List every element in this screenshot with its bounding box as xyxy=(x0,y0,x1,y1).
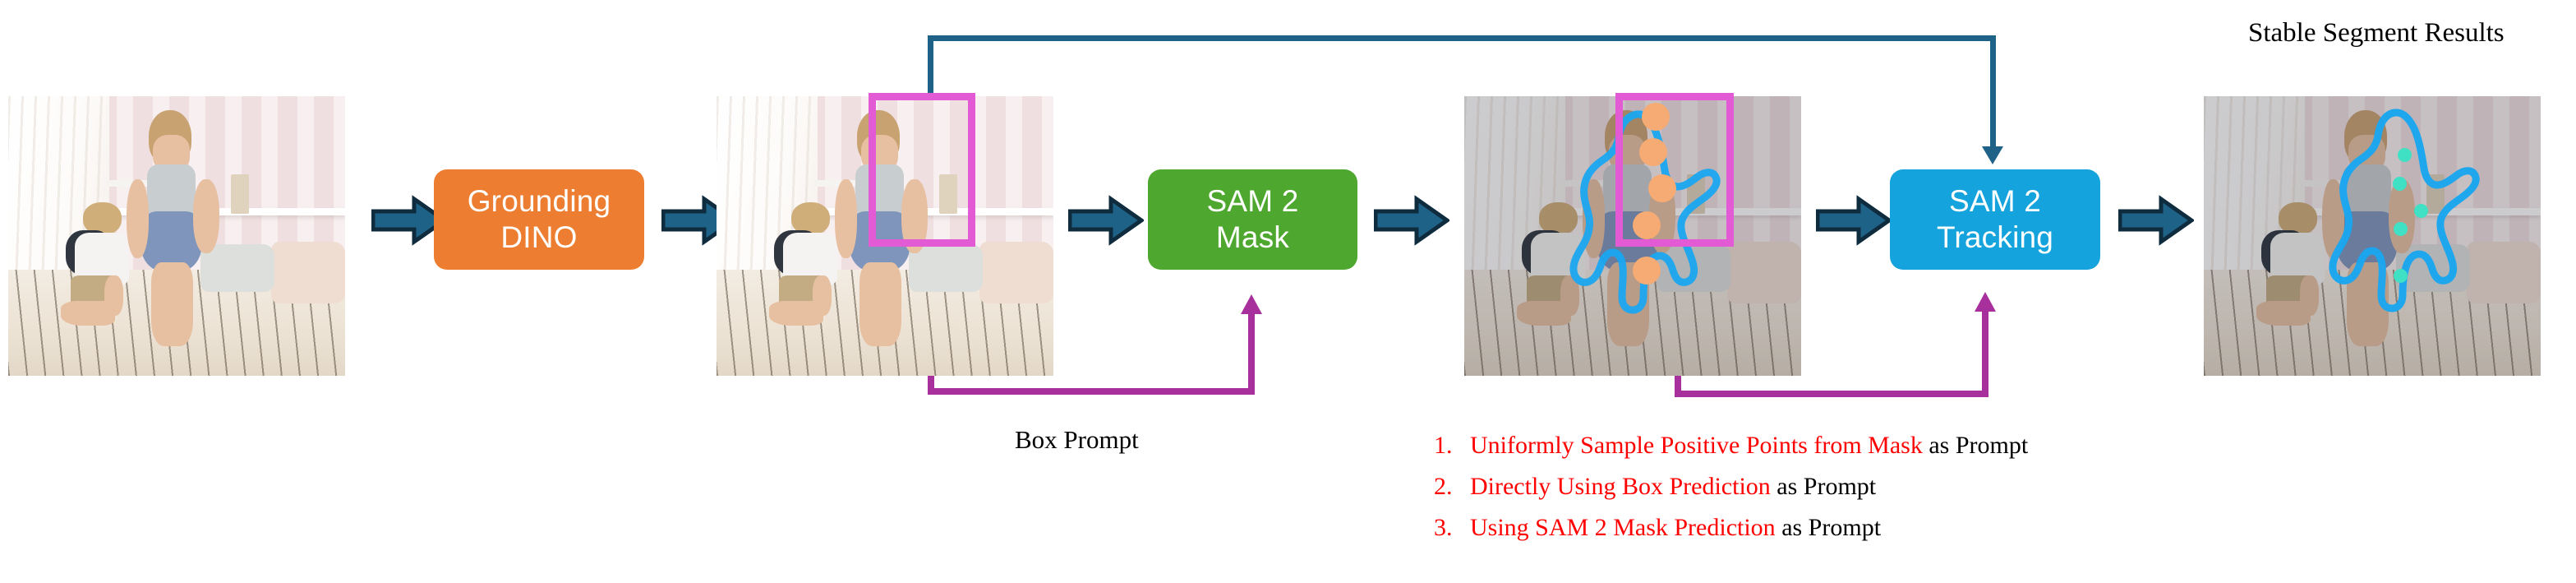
prompt-option-1: 1.Uniformly Sample Positive Points from … xyxy=(1434,432,2028,460)
prompt-option-2-red: Directly Using Box Prediction xyxy=(1470,473,1771,500)
flow-arrow-5 xyxy=(1816,195,1892,246)
connector-points-horizontal xyxy=(1675,391,1988,397)
girl-arm-right xyxy=(193,179,219,253)
grounding-dino-line1: Grounding xyxy=(468,183,611,220)
girl-figure xyxy=(122,110,223,356)
pillow-right xyxy=(271,242,345,303)
sam2-tracking-line1: SAM 2 xyxy=(1937,183,2053,220)
segmentation-mask-outline xyxy=(2204,96,2541,376)
connector-boxprompt-riser xyxy=(1248,312,1255,395)
sam2-tracking-label: SAM 2 Tracking xyxy=(1937,183,2053,255)
prompt-option-2-black: as Prompt xyxy=(1771,473,1876,500)
sam2-mask-box[interactable]: SAM 2 Mask xyxy=(1148,169,1357,270)
sample-point-1 xyxy=(1642,103,1670,131)
sample-point-2 xyxy=(1639,138,1667,166)
prompt-option-1-black: as Prompt xyxy=(1923,432,2028,459)
grounding-dino-box[interactable]: Grounding DINO xyxy=(434,169,644,270)
flow-arrow-6 xyxy=(2118,195,2194,246)
sample-point-5 xyxy=(1633,257,1661,285)
sam2-mask-label: SAM 2 Mask xyxy=(1206,183,1298,255)
prompt-option-3-red: Using SAM 2 Mask Prediction xyxy=(1470,514,1776,541)
girl-arm-left xyxy=(835,179,857,258)
boy-arm xyxy=(104,275,123,316)
flow-arrow-4 xyxy=(1374,195,1449,246)
prompt-point-4 xyxy=(2394,222,2408,236)
grounding-dino-line2: DINO xyxy=(468,220,611,256)
prompt-option-3-black: as Prompt xyxy=(1776,514,1881,541)
prompt-option-1-red: Uniformly Sample Positive Points from Ma… xyxy=(1470,432,1923,459)
prompt-point-3 xyxy=(2414,204,2428,218)
prompt-option-2: 2.Directly Using Box Prediction as Promp… xyxy=(1434,473,1876,501)
connector-points-arrowhead-up xyxy=(1975,292,1996,312)
prompt-point-2 xyxy=(2393,177,2407,191)
grounding-dino-label: Grounding DINO xyxy=(468,183,611,255)
prompt-option-1-number: 1. xyxy=(1434,432,1470,460)
pillow-right xyxy=(979,242,1053,303)
sam2-mask-line2: Mask xyxy=(1206,220,1298,256)
sam2-tracking-box[interactable]: SAM 2 Tracking xyxy=(1890,169,2100,270)
girl-legs xyxy=(151,262,194,346)
connector-detection-to-tracking-horizontal xyxy=(928,35,1996,41)
girl-arm-left xyxy=(127,179,149,258)
connector-boxprompt-horizontal xyxy=(928,388,1255,395)
page-title: Stable Segment Results xyxy=(2248,18,2505,49)
detection-bounding-box xyxy=(869,93,975,247)
prompt-point-5 xyxy=(2394,269,2408,283)
flow-arrow-3 xyxy=(1068,195,1144,246)
connector-boxprompt-arrowhead-up xyxy=(1241,294,1262,314)
connector-points-riser xyxy=(1982,310,1988,397)
shelf-lantern xyxy=(231,174,249,214)
result-scene xyxy=(2204,96,2541,376)
girl-top xyxy=(147,164,196,219)
prompt-option-2-number: 2. xyxy=(1434,473,1470,501)
prompt-option-3-number: 3. xyxy=(1434,514,1470,542)
result-frame xyxy=(2204,96,2541,376)
prompt-option-3: 3.Using SAM 2 Mask Prediction as Prompt xyxy=(1434,514,1881,542)
boy-arm xyxy=(813,275,832,316)
sam2-tracking-line2: Tracking xyxy=(1937,220,2053,256)
connector-detection-to-tracking-left-riser xyxy=(928,35,933,99)
input-scene xyxy=(8,96,345,376)
sample-point-3 xyxy=(1648,174,1676,202)
prompt-point-1 xyxy=(2398,148,2412,162)
girl-legs xyxy=(859,262,902,346)
box-prompt-caption: Box Prompt xyxy=(1015,425,1139,455)
figure-canvas: Grounding DINO xyxy=(0,0,2576,583)
input-frame xyxy=(8,96,345,376)
sam2-mask-line1: SAM 2 xyxy=(1206,183,1298,220)
sample-point-4 xyxy=(1633,211,1661,239)
connector-detection-to-tracking-right-drop xyxy=(1990,35,1996,150)
connector-tracking-arrowhead-down xyxy=(1982,146,2003,164)
